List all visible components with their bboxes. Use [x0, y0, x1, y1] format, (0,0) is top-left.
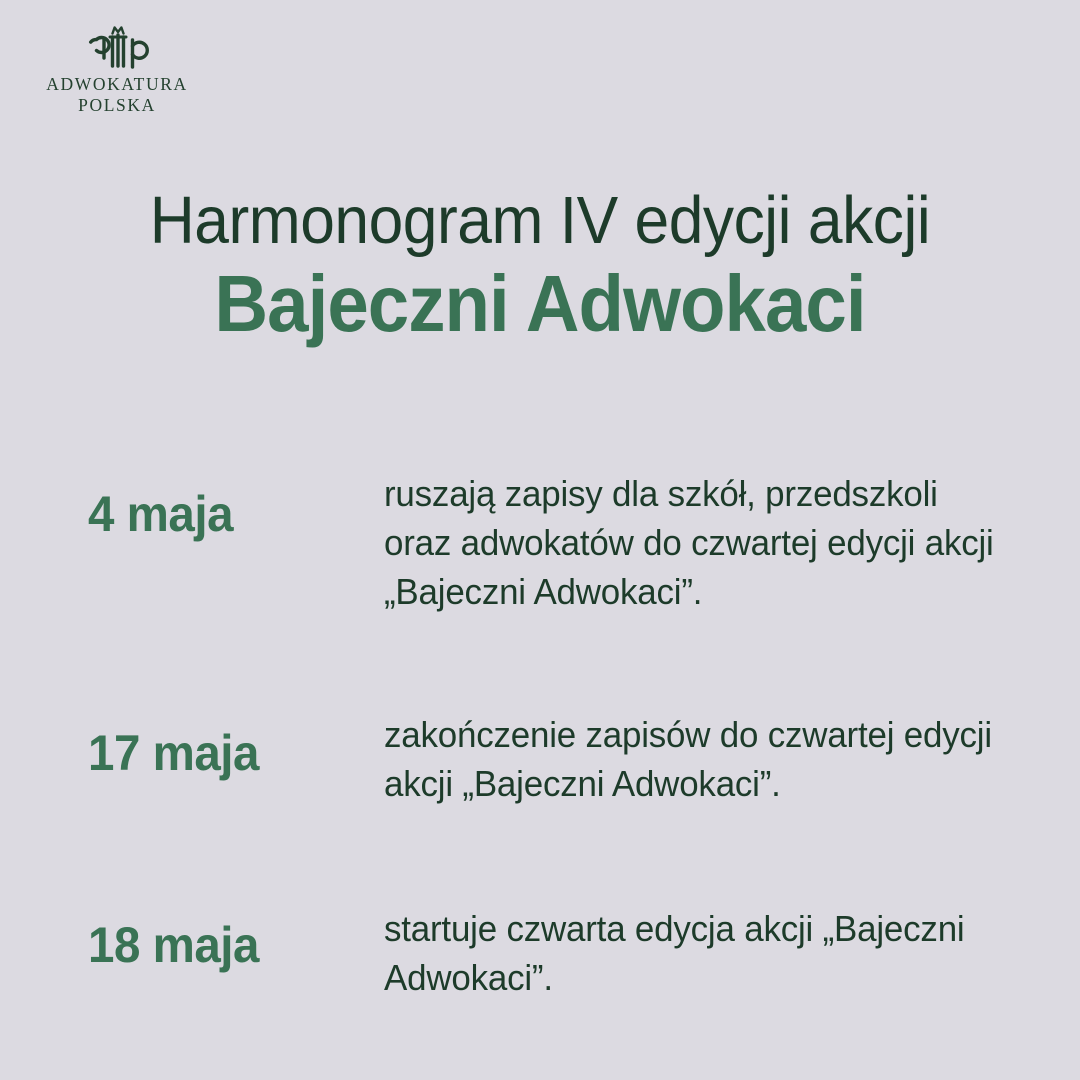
page-title-line-2: Bajeczni Adwokaci: [38, 262, 1042, 346]
schedule-row-description: ruszają zapisy dla szkół, przedszkoli or…: [384, 470, 1009, 617]
logo-text-polska: POLSKA: [22, 95, 212, 116]
schedule-row: 4 maja ruszają zapisy dla szkół, przedsz…: [88, 470, 1028, 617]
schedule-row-date: 17 maja: [88, 711, 369, 781]
schedule-row: 17 maja zakończenie zapisów do czwartej …: [88, 711, 1028, 809]
logo-wordmark: ADWOKATURA POLSKA: [22, 74, 212, 117]
adwokatura-crest-icon: [76, 14, 158, 74]
page-title-line-1: Harmonogram IV edycji akcji: [38, 186, 1042, 256]
schedule-row-date: 4 maja: [88, 470, 369, 542]
schedule-row: 18 maja startuje czwarta edycja akcji „B…: [88, 905, 1028, 1003]
page-title: Harmonogram IV edycji akcji Bajeczni Adw…: [0, 186, 1080, 346]
brand-logo: ADWOKATURA POLSKA: [22, 14, 212, 117]
schedule-list: 4 maja ruszają zapisy dla szkół, przedsz…: [88, 470, 1028, 1003]
schedule-row-description: zakończenie zapisów do czwartej edycji a…: [384, 711, 1009, 809]
schedule-row-description: startuje czwarta edycja akcji „Bajeczni …: [384, 905, 1009, 1003]
schedule-row-date: 18 maja: [88, 905, 369, 973]
logo-text-adwokatura: ADWOKATURA: [22, 74, 212, 95]
